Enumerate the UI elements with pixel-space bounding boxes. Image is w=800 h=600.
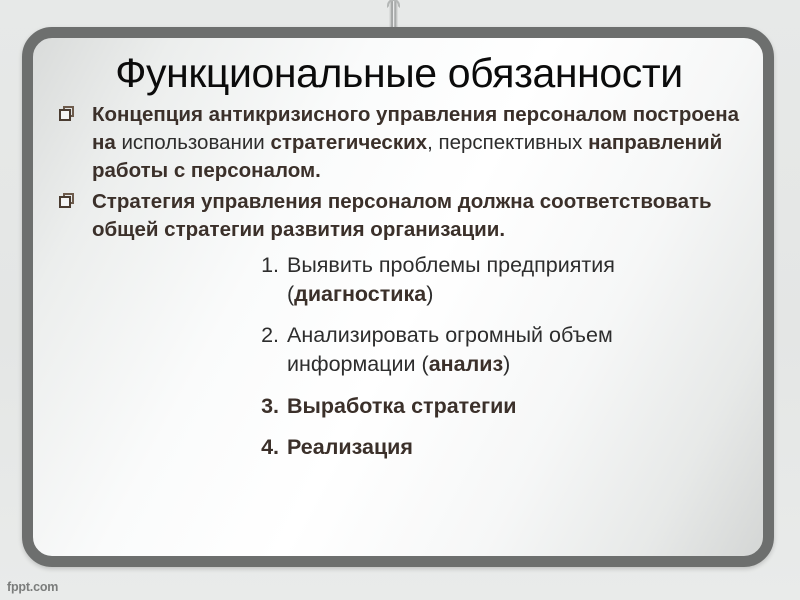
numbered-list-item: 3. Выработка стратегии — [245, 392, 745, 421]
item-text: Выработка стратегии — [287, 394, 517, 418]
bold-run: анализ — [429, 352, 503, 376]
slide-content-area: Функциональные обязанности Концепция ант… — [33, 38, 763, 556]
regular-run: использовании — [121, 131, 270, 154]
list-item: Концепция антикризисного управления перс… — [53, 101, 745, 184]
book-square-bullet-icon — [59, 106, 74, 121]
bold-run: диагностика — [294, 282, 426, 306]
bold-run: Реализация — [287, 435, 413, 459]
bold-run: Выработка стратегии — [287, 394, 517, 418]
whiteboard-frame: Функциональные обязанности Концепция ант… — [22, 27, 774, 567]
item-text: Выявить проблемы предприятия (диагностик… — [287, 253, 615, 306]
item-number: 2. — [245, 321, 279, 350]
page-title: Функциональные обязанности — [53, 52, 745, 95]
bullet-list: Концепция антикризисного управления перс… — [53, 101, 745, 243]
book-square-bullet-icon — [59, 193, 74, 208]
item-text: Анализировать огромный объем информации … — [287, 323, 613, 376]
list-item: Стратегия управления персоналом должна с… — [53, 188, 745, 243]
regular-run: ) — [426, 282, 433, 306]
item-number: 4. — [245, 433, 279, 462]
numbered-list-item: 4. Реализация — [245, 433, 745, 462]
item-text: Реализация — [287, 435, 413, 459]
regular-run: , перспективных — [427, 131, 588, 154]
regular-run: ) — [503, 352, 510, 376]
item-number: 3. — [245, 392, 279, 421]
bold-run: стратегических — [270, 131, 427, 154]
fppt-watermark: fppt.com — [7, 580, 58, 594]
bullet-text-2: Стратегия управления персоналом должна с… — [92, 190, 712, 241]
numbered-list-item: 2. Анализировать огромный объем информац… — [245, 321, 745, 378]
item-number: 1. — [245, 251, 279, 280]
numbered-list: 1. Выявить проблемы предприятия (диагнос… — [53, 251, 745, 462]
bullet-text-1: Концепция антикризисного управления перс… — [92, 103, 739, 181]
bold-run: Стратегия управления персоналом должна с… — [92, 190, 712, 241]
numbered-list-item: 1. Выявить проблемы предприятия (диагнос… — [245, 251, 745, 308]
